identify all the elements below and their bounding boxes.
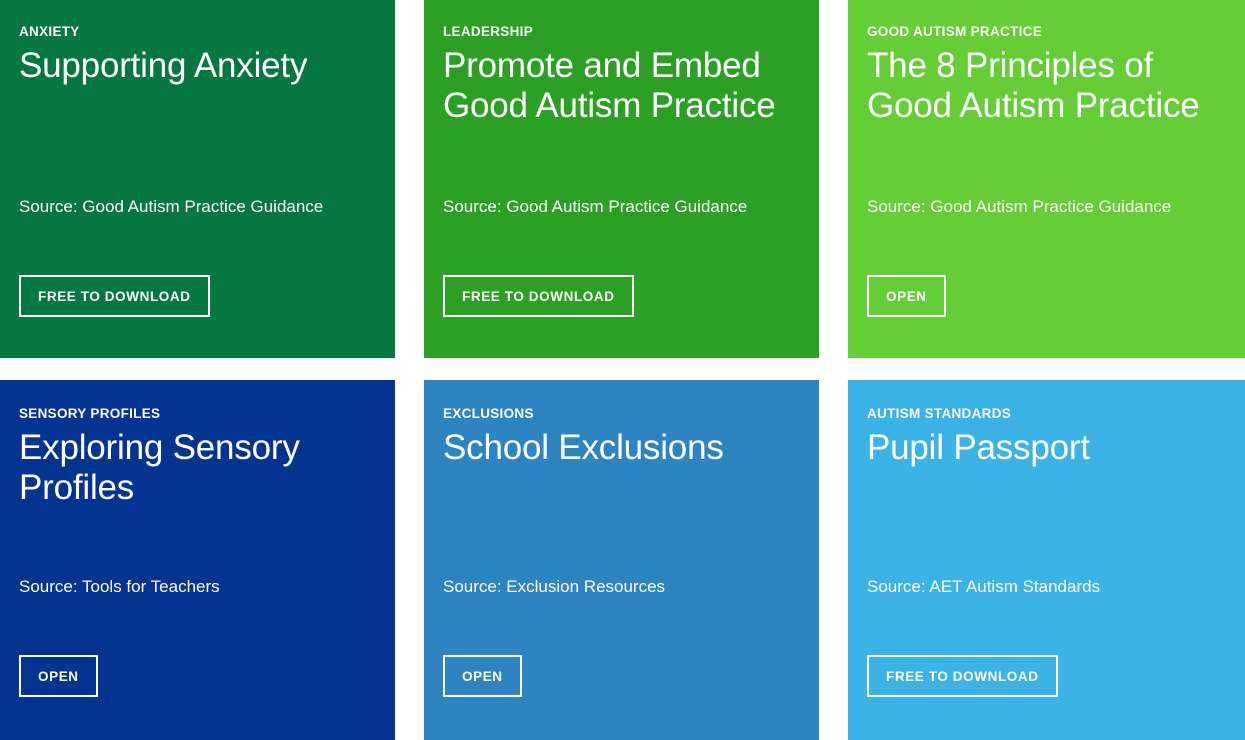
card-source-text: Source: Tools for Teachers bbox=[19, 576, 375, 597]
card-title: Supporting Anxiety bbox=[19, 46, 375, 86]
card-title: Exploring Sensory Profiles bbox=[19, 428, 375, 507]
resource-card[interactable]: EXCLUSIONS School Exclusions Source: Exc… bbox=[424, 380, 819, 740]
card-category-label: LEADERSHIP bbox=[443, 24, 799, 40]
card-title-block: Pupil Passport bbox=[867, 428, 1225, 576]
card-title: Promote and Embed Good Autism Practice bbox=[443, 46, 799, 125]
card-action-button[interactable]: OPEN bbox=[19, 655, 98, 698]
card-action-wrap: FREE TO DOWNLOAD bbox=[443, 275, 634, 318]
card-title-block: Promote and Embed Good Autism Practice bbox=[443, 46, 799, 196]
card-title-block: Exploring Sensory Profiles bbox=[19, 428, 375, 576]
card-action-wrap: FREE TO DOWNLOAD bbox=[867, 655, 1058, 698]
card-source-text: Source: Good Autism Practice Guidance bbox=[19, 196, 375, 217]
card-action-button[interactable]: OPEN bbox=[443, 655, 522, 698]
card-action-wrap: OPEN bbox=[19, 655, 98, 698]
card-title: Pupil Passport bbox=[867, 428, 1225, 468]
resource-card[interactable]: LEADERSHIP Promote and Embed Good Autism… bbox=[424, 0, 819, 358]
card-action-button[interactable]: FREE TO DOWNLOAD bbox=[19, 275, 210, 318]
card-category-label: ANXIETY bbox=[19, 24, 375, 40]
card-action-wrap: OPEN bbox=[867, 275, 946, 318]
resource-card-grid: ANXIETY Supporting Anxiety Source: Good … bbox=[0, 0, 1245, 740]
card-title-block: School Exclusions bbox=[443, 428, 799, 576]
card-action-button[interactable]: OPEN bbox=[867, 275, 946, 318]
card-source-text: Source: AET Autism Standards bbox=[867, 576, 1225, 597]
card-title: School Exclusions bbox=[443, 428, 799, 468]
card-action-wrap: FREE TO DOWNLOAD bbox=[19, 275, 210, 318]
card-category-label: SENSORY PROFILES bbox=[19, 406, 375, 422]
card-title-block: The 8 Principles of Good Autism Practice bbox=[867, 46, 1225, 196]
card-action-button[interactable]: FREE TO DOWNLOAD bbox=[443, 275, 634, 318]
card-source-text: Source: Good Autism Practice Guidance bbox=[443, 196, 799, 217]
card-category-label: GOOD AUTISM PRACTICE bbox=[867, 24, 1225, 40]
card-title-block: Supporting Anxiety bbox=[19, 46, 375, 196]
resource-card[interactable]: ANXIETY Supporting Anxiety Source: Good … bbox=[0, 0, 395, 358]
card-category-label: EXCLUSIONS bbox=[443, 406, 799, 422]
card-action-wrap: OPEN bbox=[443, 655, 522, 698]
card-source-text: Source: Exclusion Resources bbox=[443, 576, 799, 597]
resource-card[interactable]: GOOD AUTISM PRACTICE The 8 Principles of… bbox=[848, 0, 1245, 358]
card-action-button[interactable]: FREE TO DOWNLOAD bbox=[867, 655, 1058, 698]
card-source-text: Source: Good Autism Practice Guidance bbox=[867, 196, 1225, 217]
resource-card[interactable]: SENSORY PROFILES Exploring Sensory Profi… bbox=[0, 380, 395, 740]
resource-card[interactable]: AUTISM STANDARDS Pupil Passport Source: … bbox=[848, 380, 1245, 740]
card-category-label: AUTISM STANDARDS bbox=[867, 406, 1225, 422]
card-title: The 8 Principles of Good Autism Practice bbox=[867, 46, 1225, 125]
